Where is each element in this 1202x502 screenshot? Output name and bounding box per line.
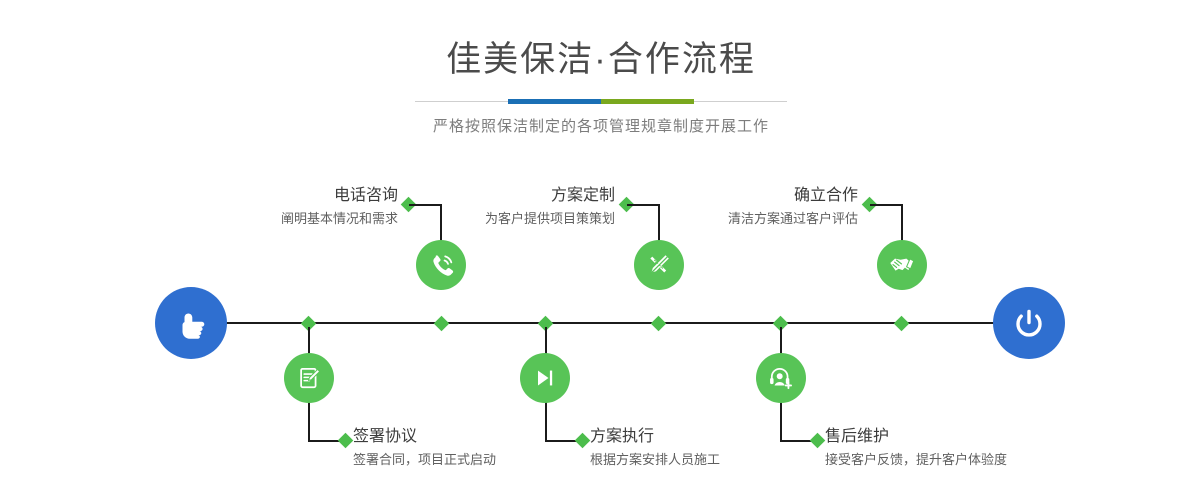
step-label-phone-consultation: 电话咨询 阐明基本情况和需求 — [246, 186, 398, 229]
page-title: 佳美保洁·合作流程 — [0, 42, 1202, 77]
flow-start-node — [155, 287, 227, 359]
support-agent-icon — [767, 364, 795, 392]
step-title: 签署协议 — [353, 427, 496, 447]
power-icon — [1009, 303, 1049, 343]
title-divider — [415, 101, 787, 102]
document-edit-icon — [295, 364, 323, 392]
play-forward-icon — [531, 364, 559, 392]
step-marker-diamond — [338, 433, 354, 449]
divider-segment-green — [601, 99, 694, 104]
step-marker-diamond — [810, 433, 826, 449]
step-label-sign-agreement: 签署协议 签署合同，项目正式启动 — [353, 427, 496, 470]
step-label-plan-customization: 方案定制 为客户提供项目策策划 — [455, 186, 615, 229]
page-subtitle: 严格按照保洁制定的各项管理规章制度开展工作 — [0, 115, 1202, 136]
step-label-establish-cooperation: 确立合作 清洁方案通过客户评估 — [698, 186, 858, 229]
step-icon-document-edit — [284, 353, 334, 403]
step-description: 为客户提供项目策策划 — [455, 209, 615, 229]
step-description: 根据方案安排人员施工 — [590, 450, 720, 470]
step-connector-vertical — [658, 204, 660, 242]
step-connector-horizontal — [870, 204, 902, 206]
step-title: 方案定制 — [455, 186, 615, 206]
step-description: 阐明基本情况和需求 — [246, 209, 398, 229]
step-label-plan-execution: 方案执行 根据方案安排人员施工 — [590, 427, 720, 470]
axis-marker-diamond — [434, 316, 450, 332]
phone-call-icon — [426, 250, 456, 280]
handshake-icon — [887, 250, 917, 280]
step-connector-horizontal — [627, 204, 659, 206]
axis-marker-diamond — [894, 316, 910, 332]
step-icon-play-forward — [520, 353, 570, 403]
step-title: 方案执行 — [590, 427, 720, 447]
step-description: 清洁方案通过客户评估 — [698, 209, 858, 229]
pointing-hand-icon — [171, 303, 211, 343]
step-description: 接受客户反馈，提升客户体验度 — [825, 450, 1007, 470]
step-connector-vertical — [440, 204, 442, 242]
step-label-after-sales-maintenance: 售后维护 接受客户反馈，提升客户体验度 — [825, 427, 1007, 470]
step-title: 电话咨询 — [246, 186, 398, 206]
step-title: 售后维护 — [825, 427, 1007, 447]
pencil-ruler-icon — [645, 251, 673, 279]
step-marker-diamond — [575, 433, 591, 449]
flow-diagram-canvas: 佳美保洁·合作流程 严格按照保洁制定的各项管理规章制度开展工作 — [0, 0, 1202, 502]
step-title: 确立合作 — [698, 186, 858, 206]
step-icon-pencil-ruler — [634, 240, 684, 290]
divider-segment-blue — [508, 99, 601, 104]
header: 佳美保洁·合作流程 严格按照保洁制定的各项管理规章制度开展工作 — [0, 0, 1202, 136]
axis-marker-diamond — [651, 316, 667, 332]
step-description: 签署合同，项目正式启动 — [353, 450, 496, 470]
step-connector-vertical — [901, 204, 903, 242]
step-connector-horizontal — [409, 204, 441, 206]
flow-end-node — [993, 287, 1065, 359]
step-icon-phone-call — [416, 240, 466, 290]
step-icon-support-agent — [756, 353, 806, 403]
step-icon-handshake — [877, 240, 927, 290]
